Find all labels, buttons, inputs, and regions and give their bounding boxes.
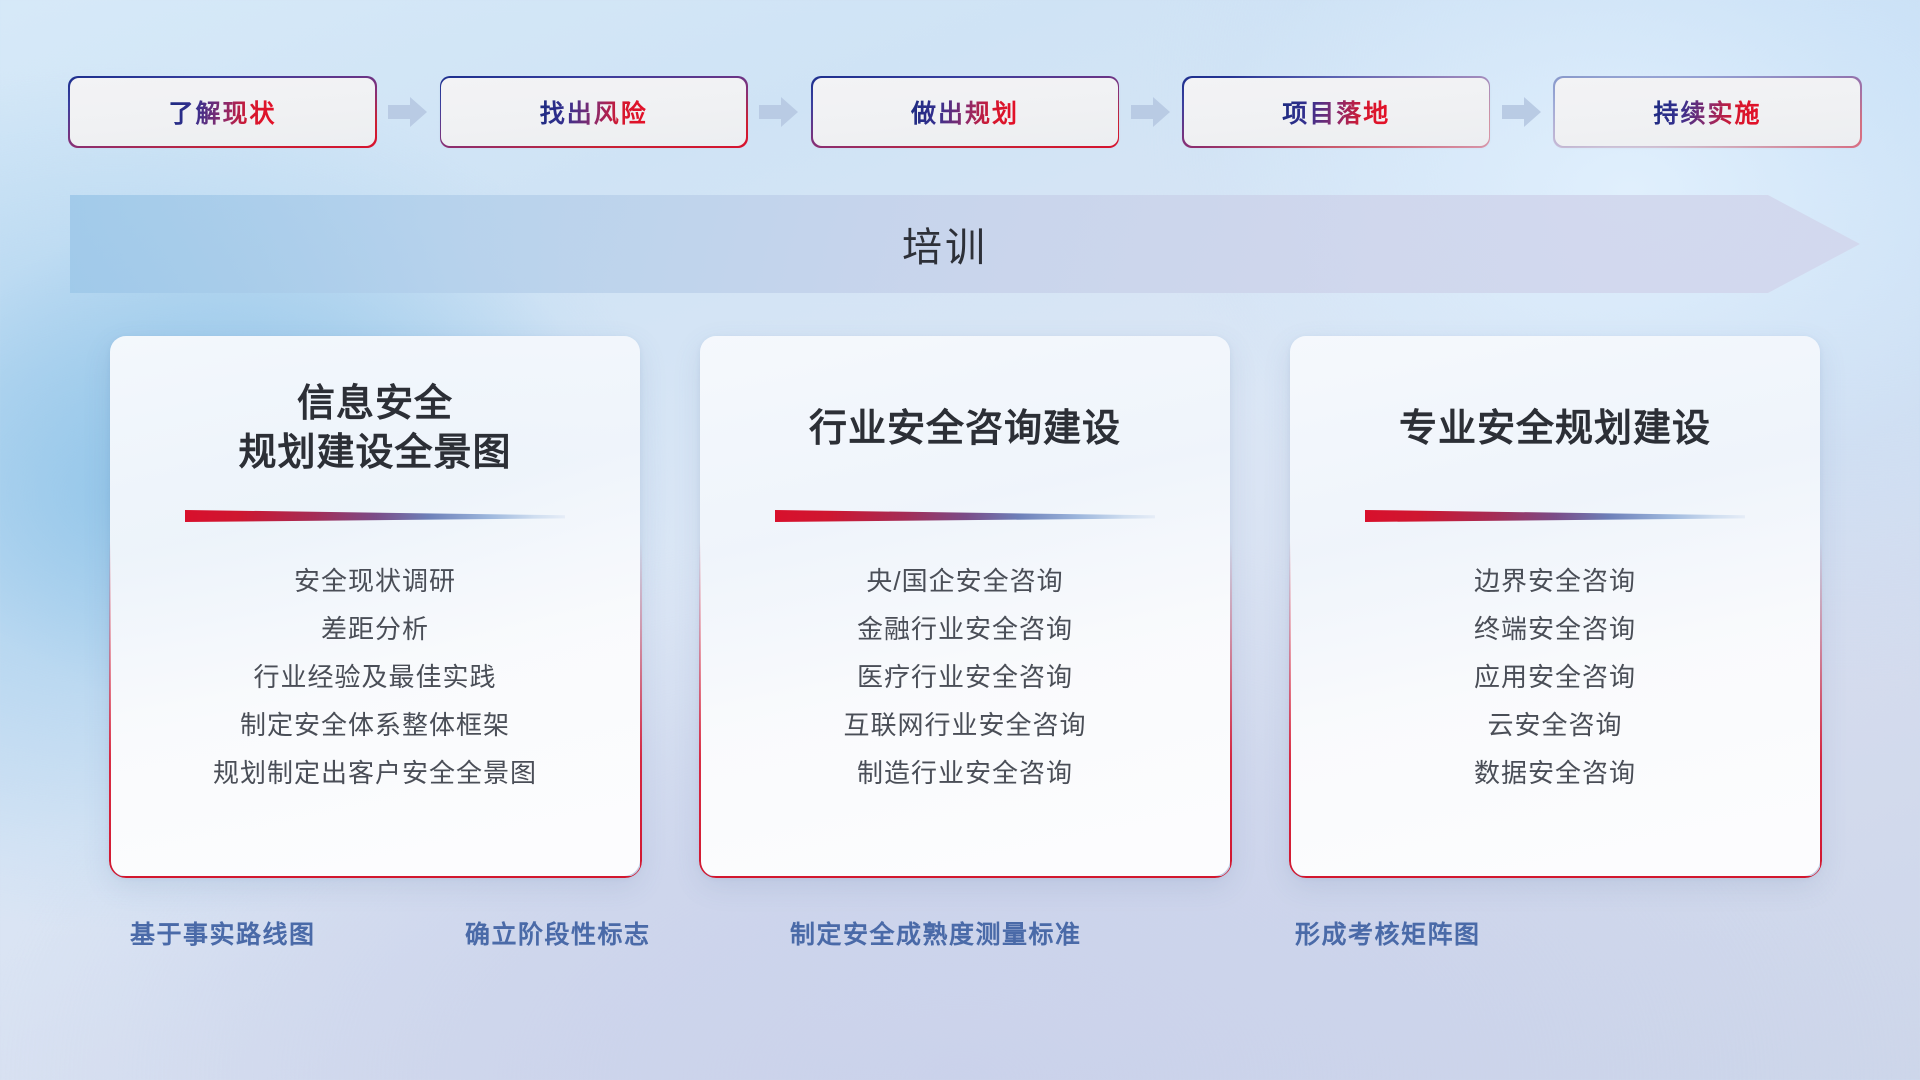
bottom-caption-1: 基于事实路线图 <box>130 915 316 951</box>
service-card-list: 边界安全咨询终端安全咨询应用安全咨询云安全咨询数据安全咨询 <box>1316 558 1794 798</box>
service-card-list: 安全现状调研差距分析行业经验及最佳实践制定安全体系整体框架规划制定出客户安全全景… <box>136 558 614 798</box>
arrow-right-icon <box>759 95 799 129</box>
list-item[interactable]: 互联网行业安全咨询 <box>726 702 1204 750</box>
process-step-label: 找出风险 <box>540 94 648 130</box>
service-card-3[interactable]: 专业安全规划建设边界安全咨询终端安全咨询应用安全咨询云安全咨询数据安全咨询 <box>1290 336 1820 876</box>
list-item[interactable]: 规划制定出客户安全全景图 <box>136 750 614 798</box>
service-card-divider <box>1365 508 1745 522</box>
divider-gradient-bar <box>775 508 1155 522</box>
process-step-1[interactable]: 了解现状 <box>70 78 375 146</box>
process-step-3[interactable]: 做出规划 <box>813 78 1118 146</box>
service-card-1[interactable]: 信息安全规划建设全景图安全现状调研差距分析行业经验及最佳实践制定安全体系整体框架… <box>110 336 640 876</box>
service-card-divider <box>185 508 565 522</box>
arrow-right-icon <box>388 95 428 129</box>
service-card-title-line1: 信息安全 <box>238 380 511 429</box>
divider-gradient-bar <box>185 508 565 522</box>
training-banner: 培训 <box>70 195 1860 293</box>
process-step-4[interactable]: 项目落地 <box>1184 78 1489 146</box>
process-step-2[interactable]: 找出风险 <box>441 78 746 146</box>
list-item[interactable]: 金融行业安全咨询 <box>726 606 1204 654</box>
bottom-caption-4: 形成考核矩阵图 <box>1295 915 1481 951</box>
service-card-title: 专业安全规划建设 <box>1399 380 1711 478</box>
list-item[interactable]: 差距分析 <box>136 606 614 654</box>
list-item[interactable]: 央/国企安全咨询 <box>726 558 1204 606</box>
divider-gradient-bar <box>1365 508 1745 522</box>
list-item[interactable]: 安全现状调研 <box>136 558 614 606</box>
service-card-title-line1: 行业安全咨询建设 <box>809 405 1121 454</box>
process-steps-row: 了解现状找出风险做出规划项目落地持续实施 <box>70 78 1860 146</box>
service-card-title-line1: 专业安全规划建设 <box>1399 405 1711 454</box>
service-card-list: 央/国企安全咨询金融行业安全咨询医疗行业安全咨询互联网行业安全咨询制造行业安全咨… <box>726 558 1204 798</box>
service-card-2[interactable]: 行业安全咨询建设央/国企安全咨询金融行业安全咨询医疗行业安全咨询互联网行业安全咨… <box>700 336 1230 876</box>
process-step-5[interactable]: 持续实施 <box>1555 78 1860 146</box>
arrow-right-icon <box>1131 95 1171 129</box>
list-item[interactable]: 终端安全咨询 <box>1316 606 1794 654</box>
list-item[interactable]: 边界安全咨询 <box>1316 558 1794 606</box>
list-item[interactable]: 数据安全咨询 <box>1316 750 1794 798</box>
process-step-label: 做出规划 <box>911 94 1019 130</box>
list-item[interactable]: 应用安全咨询 <box>1316 654 1794 702</box>
list-item[interactable]: 云安全咨询 <box>1316 702 1794 750</box>
process-step-label: 持续实施 <box>1653 94 1761 130</box>
bottom-captions-row: 基于事实路线图确立阶段性标志制定安全成熟度测量标准形成考核矩阵图 <box>0 915 1920 967</box>
service-card-divider <box>775 508 1155 522</box>
service-cards-row: 信息安全规划建设全景图安全现状调研差距分析行业经验及最佳实践制定安全体系整体框架… <box>110 336 1820 876</box>
process-step-label: 项目落地 <box>1282 94 1390 130</box>
list-item[interactable]: 医疗行业安全咨询 <box>726 654 1204 702</box>
list-item[interactable]: 制定安全体系整体框架 <box>136 702 614 750</box>
service-card-title-line2: 规划建设全景图 <box>238 429 511 478</box>
training-banner-label: 培训 <box>70 195 1860 293</box>
list-item[interactable]: 行业经验及最佳实践 <box>136 654 614 702</box>
service-card-title: 信息安全规划建设全景图 <box>238 380 511 478</box>
bottom-caption-3: 制定安全成熟度测量标准 <box>790 915 1082 951</box>
list-item[interactable]: 制造行业安全咨询 <box>726 750 1204 798</box>
process-step-label: 了解现状 <box>168 94 276 130</box>
bottom-caption-2: 确立阶段性标志 <box>465 915 651 951</box>
service-card-title: 行业安全咨询建设 <box>809 380 1121 478</box>
arrow-right-icon <box>1502 95 1542 129</box>
